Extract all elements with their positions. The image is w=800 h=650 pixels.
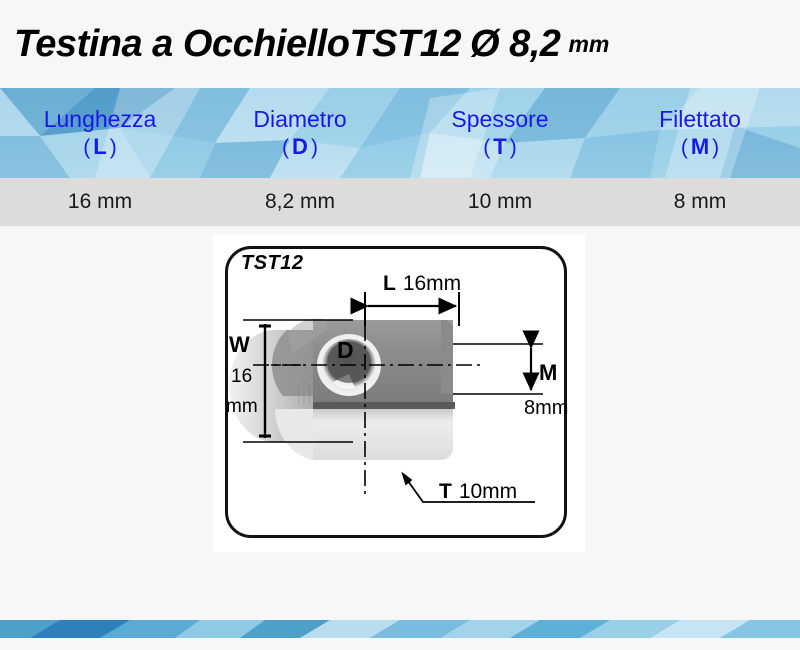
spec-header-symbol: (M) [681,135,719,159]
spec-header-lunghezza: Lunghezza (L) [0,88,200,178]
dimension-width-value-1: 16 [231,366,252,387]
spec-header-band: Lunghezza (L) Diametro (D) Spessore (T) … [0,88,800,178]
dimension-width-symbol: W [229,332,250,357]
technical-drawing: L16mm W 16 mm D M 8mm T10mm [213,234,585,552]
title-product-code: TST12 [349,23,461,66]
diagram-part-code: TST12 [241,252,304,275]
page-title: Testina a OcchielloTST12 Ø 8,2 mm [0,0,800,88]
dimension-thickness-label: T10mm [439,480,517,503]
spec-header-diametro: Diametro (D) [200,88,400,178]
dimension-width-value-2: mm [226,396,258,417]
spec-header-label: Spessore [451,107,548,131]
spec-value-row: 16 mm 8,2 mm 10 mm 8 mm [0,178,800,227]
spec-header-filettato: Filettato (M) [600,88,800,178]
spec-header-symbol: (D) [282,135,318,159]
spec-value-lunghezza: 16 mm [0,178,200,226]
footer-decoration-band [0,620,800,638]
spec-header-label: Filettato [659,107,741,131]
title-diameter: Ø 8,2 [470,23,560,66]
spec-header-symbol: (L) [83,135,116,159]
title-unit: mm [568,31,609,58]
dimension-diameter-symbol: D [337,337,354,363]
spec-value-diametro: 8,2 mm [200,178,400,226]
spec-header-label: Diametro [253,107,346,131]
dimension-length-label: L16mm [383,272,461,295]
technical-diagram-panel: L16mm W 16 mm D M 8mm T10mm [213,234,585,552]
spec-header-label: Lunghezza [44,107,157,131]
spec-header-symbol: (T) [483,135,516,159]
dimension-thread-symbol: M [539,360,557,385]
dimension-thread-value: 8mm [524,397,568,419]
dimension-thread [453,344,543,394]
footer-polygon-decoration [0,620,800,638]
spec-header-columns: Lunghezza (L) Diametro (D) Spessore (T) … [0,88,800,178]
spec-value-spessore: 10 mm [400,178,600,226]
title-product-name: Testina a Occhiello [14,23,349,66]
spec-header-spessore: Spessore (T) [400,88,600,178]
spec-value-filettato: 8 mm [600,178,800,226]
